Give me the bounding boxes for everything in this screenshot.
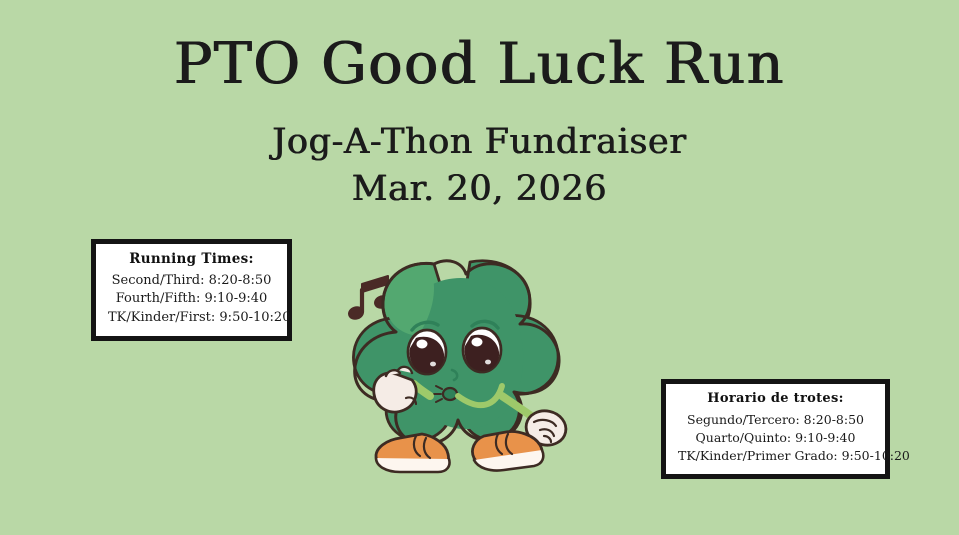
schedule-line: Segundo/Tercero: 8:20-8:50	[678, 411, 873, 429]
heading-block: PTO Good Luck Run Jog-A-Thon Fundraiser …	[0, 34, 959, 210]
event-subtitle: Jog-A-Thon Fundraiser	[0, 122, 959, 163]
running-times-box-spanish: Horario de trotes: Segundo/Tercero: 8:20…	[661, 379, 890, 479]
schedule-line: Fourth/Fifth: 9:10-9:40	[108, 290, 275, 308]
schedule-line: TK/Kinder/First: 9:50-10:20	[108, 309, 275, 327]
schedule-line: TK/Kinder/Primer Grado: 9:50-10:20	[678, 447, 873, 465]
running-times-box-english: Running Times: Second/Third: 8:20-8:50 F…	[91, 239, 292, 341]
horario-de-trotes-heading: Horario de trotes:	[678, 391, 873, 407]
page-title: PTO Good Luck Run	[0, 34, 959, 96]
left-shoe-icon	[376, 434, 450, 472]
shoes	[376, 432, 543, 472]
schedule-line: Quarto/Quinto: 9:10-9:40	[678, 429, 873, 447]
flyer-canvas: PTO Good Luck Run Jog-A-Thon Fundraiser …	[0, 0, 959, 535]
right-eye-icon	[463, 328, 501, 372]
right-shoe-icon	[472, 432, 543, 471]
left-eye-icon	[408, 330, 446, 374]
event-date: Mar. 20, 2026	[0, 169, 959, 210]
schedule-line: Second/Third: 8:20-8:50	[108, 272, 275, 290]
running-times-heading: Running Times:	[108, 251, 275, 268]
clover-mascot-illustration	[338, 246, 590, 482]
